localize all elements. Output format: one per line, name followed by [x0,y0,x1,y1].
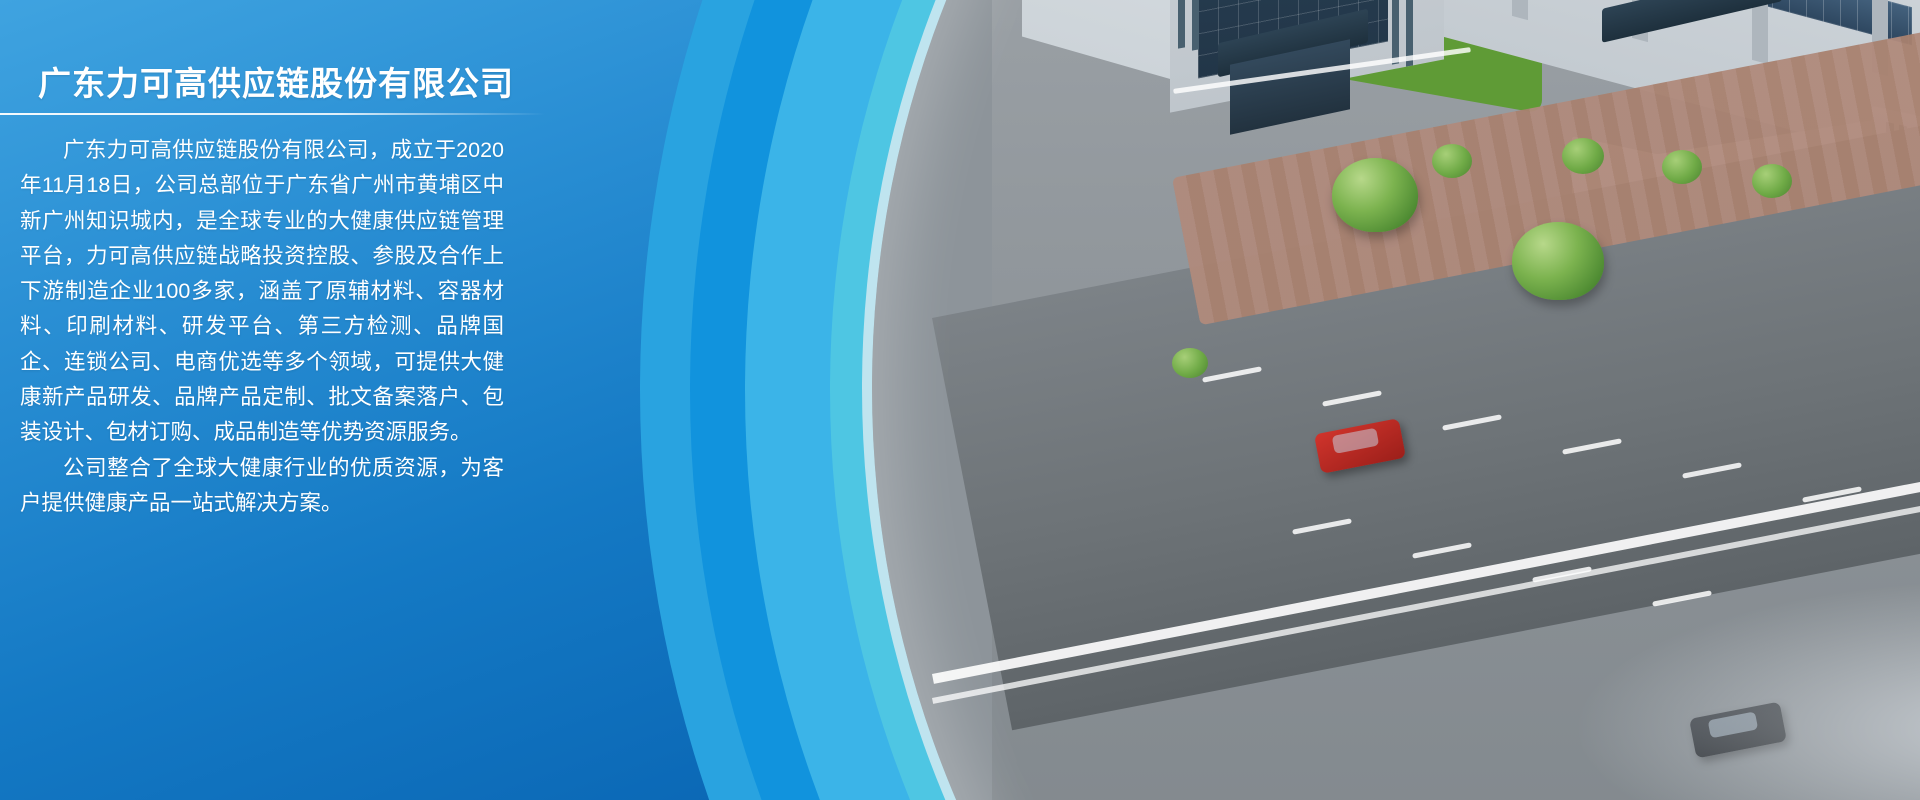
intro-body: 广东力可高供应链股份有限公司，成立于2020年11月18日，公司总部位于广东省广… [20,133,504,521]
title-divider [0,113,545,115]
shrub [1432,144,1472,178]
facade-pier [1752,0,1768,64]
intro-text-panel: 广东力可高供应链股份有限公司 广东力可高供应链股份有限公司，成立于2020年11… [0,0,560,800]
banner-stage: 广东力可高供应链股份有限公司 广东力可高供应链股份有限公司，成立于2020年11… [0,0,1920,800]
facade-slit [1192,0,1199,51]
facade-slit [1178,0,1185,49]
shrub [1172,348,1208,378]
intro-paragraph-1: 广东力可高供应链股份有限公司，成立于2020年11月18日，公司总部位于广东省广… [20,133,504,451]
hero-image-content [872,0,1920,800]
shrub [1562,138,1604,174]
building-main [1022,0,1442,78]
facade-slit [1392,0,1399,65]
tree [1332,158,1418,232]
tree [1512,222,1604,300]
shrub [1662,150,1702,184]
page-title: 广东力可高供应链股份有限公司 [38,57,514,105]
building-main-side [1022,0,1172,80]
intro-paragraph-2: 公司整合了全球大健康行业的优质资源，为客户提供健康产品一站式解决方案。 [20,451,504,522]
shrub [1752,164,1792,198]
car-cabin [1332,427,1379,454]
hero-image-disc [872,0,1920,800]
atmospheric-haze [1572,578,1920,800]
